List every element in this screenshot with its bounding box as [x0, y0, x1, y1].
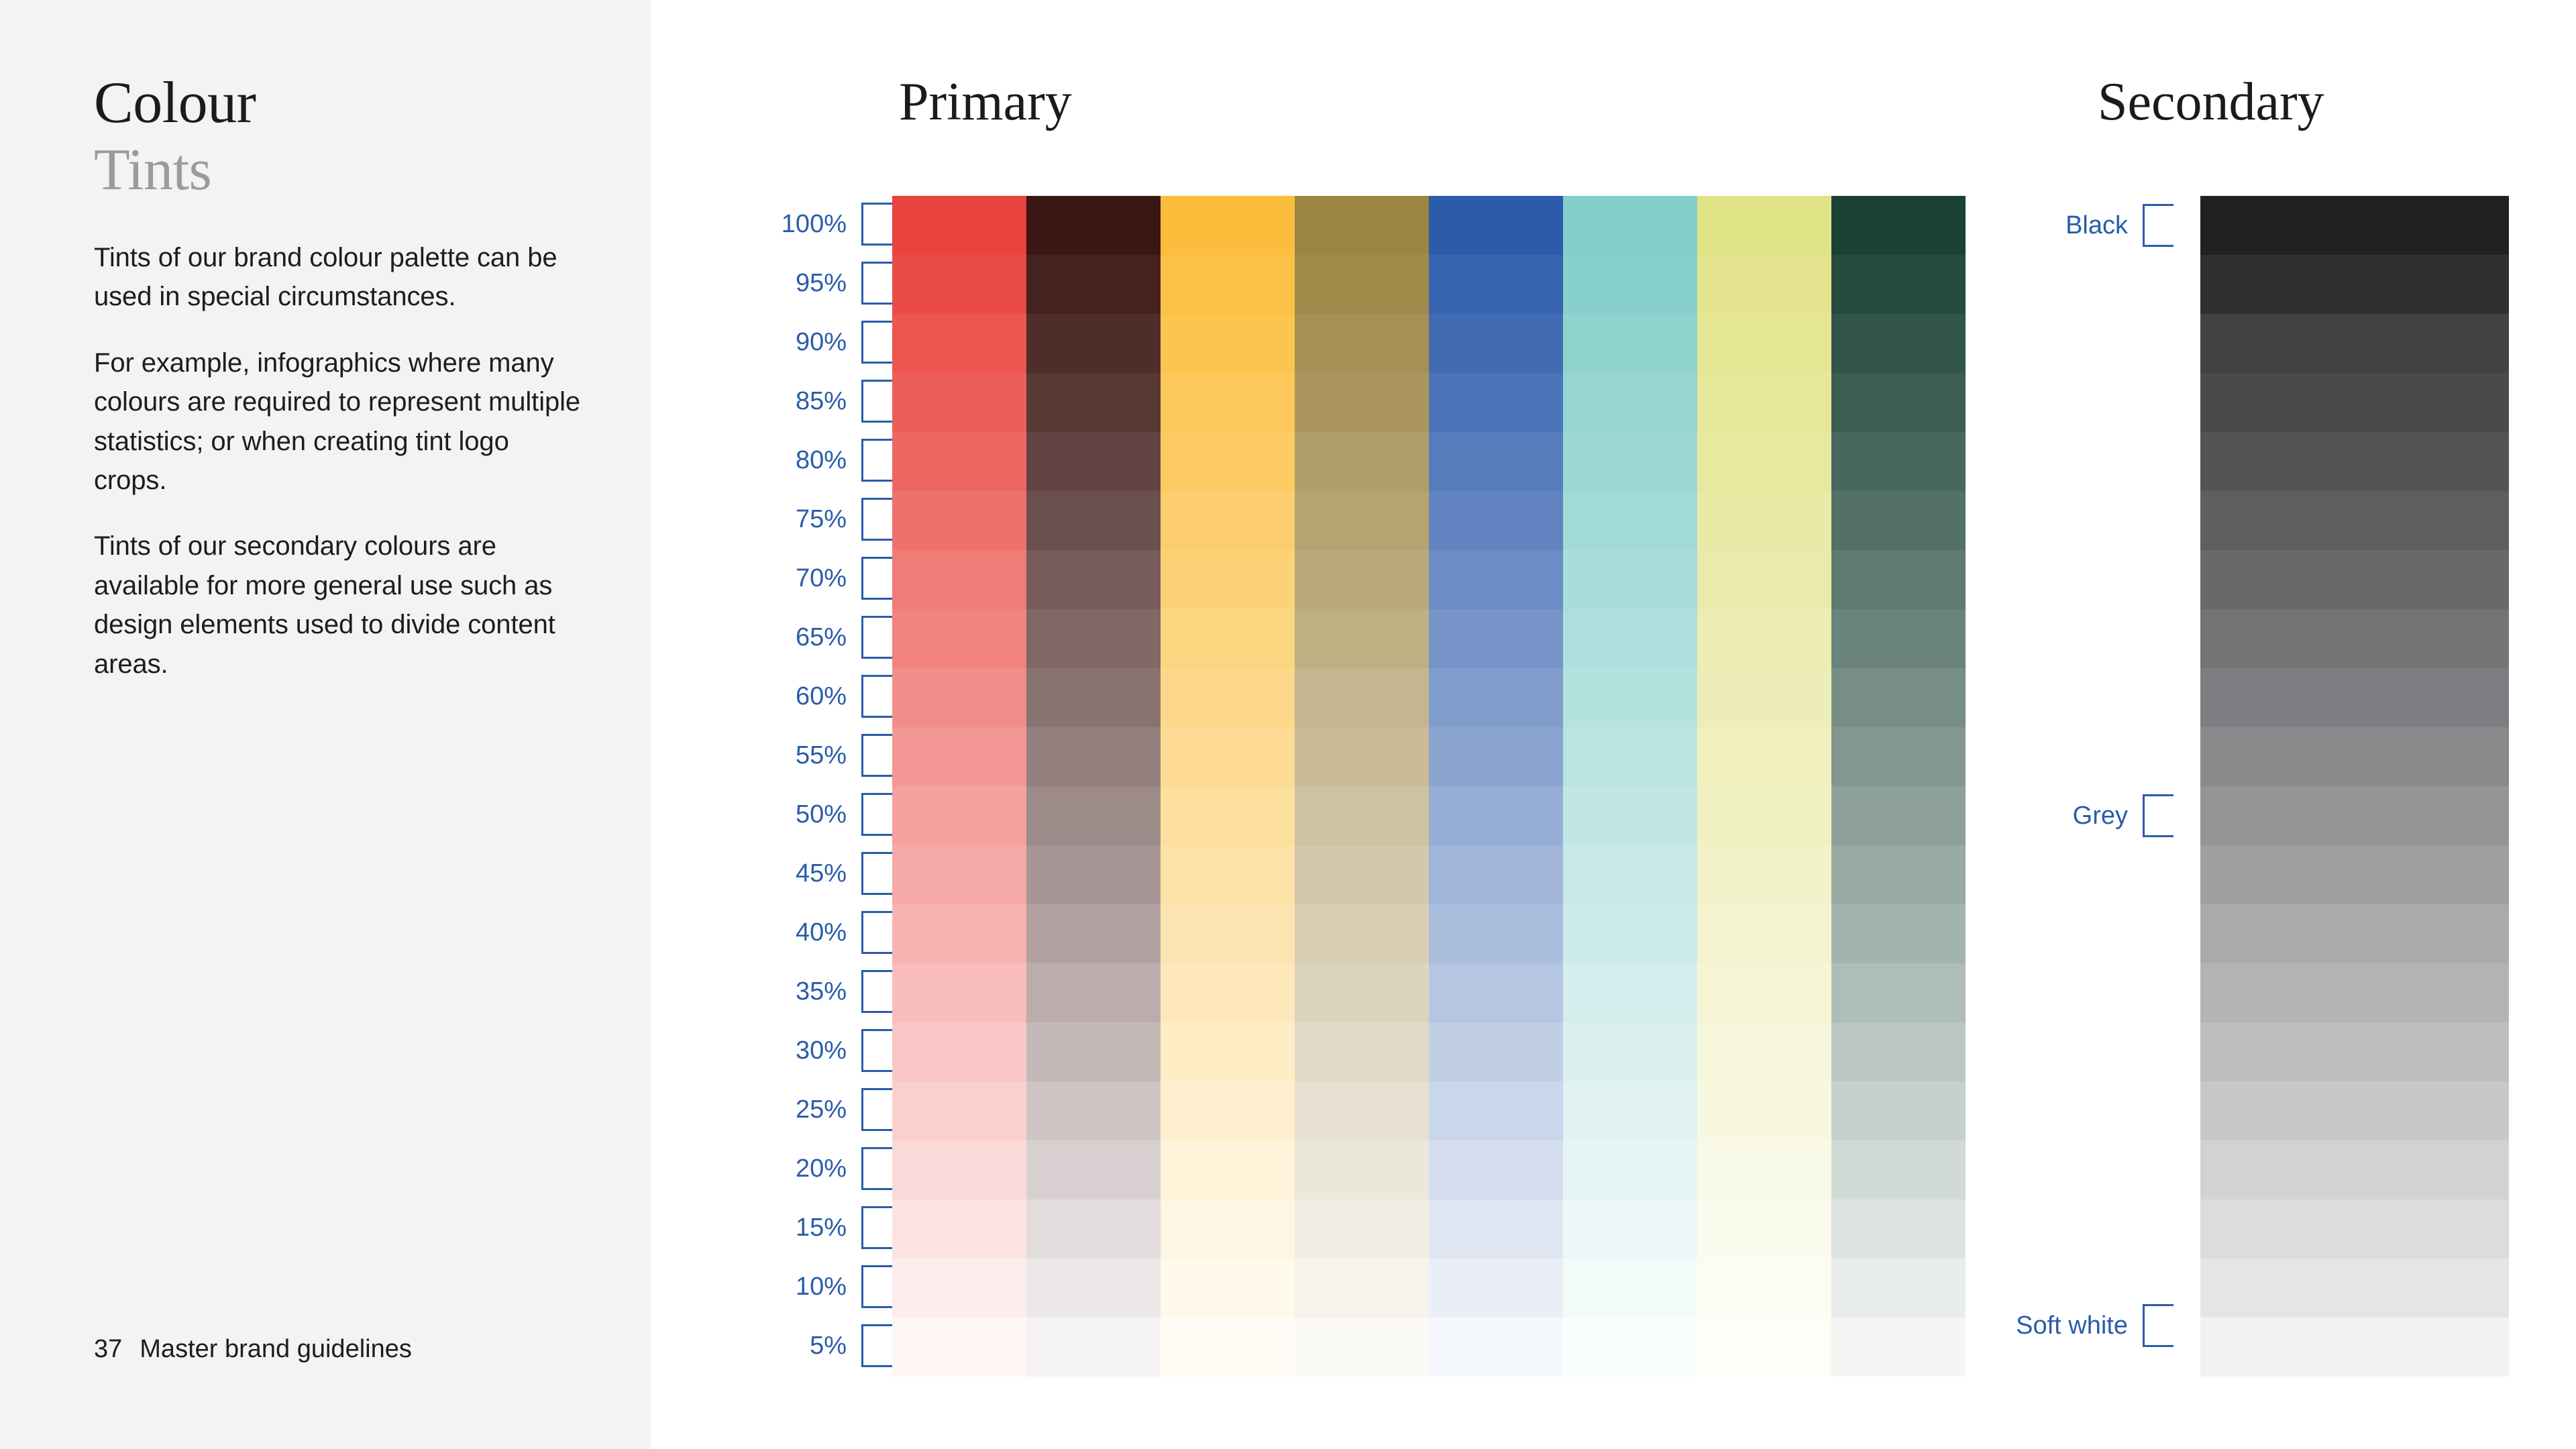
- bracket-marker: [861, 911, 892, 954]
- bracket-marker: [861, 321, 892, 364]
- tint-swatch: [1697, 963, 1831, 1022]
- tint-swatch: [1161, 904, 1295, 963]
- tint-swatch: [892, 1081, 1026, 1140]
- tint-swatch: [1295, 550, 1429, 609]
- tint-swatch: [892, 255, 1026, 314]
- tint-swatch: [1026, 432, 1161, 491]
- bracket-marker-soft-white: [2143, 1304, 2173, 1347]
- body-paragraph-1: Tints of our brand colour palette can be…: [94, 238, 584, 317]
- tint-percent-label: 95%: [796, 270, 847, 296]
- tint-swatch: [892, 432, 1026, 491]
- tint-swatch: [1026, 1318, 1161, 1377]
- tint-swatch: [1161, 1318, 1295, 1377]
- tint-swatch: [1026, 786, 1161, 845]
- tint-swatch: [892, 491, 1026, 550]
- tint-swatch: [1697, 786, 1831, 845]
- primary-column-aqua: [1563, 196, 1697, 1377]
- bracket-marker: [861, 1265, 892, 1308]
- heading-primary: Primary: [899, 75, 1072, 129]
- tint-swatch: [1429, 1258, 1563, 1318]
- secondary-label-grey-text: Grey: [2073, 803, 2128, 828]
- tint-swatch: [1563, 196, 1697, 255]
- tint-scale-row: 65%: [718, 608, 892, 667]
- tint-swatch: [1026, 727, 1161, 786]
- tint-swatch: [1161, 668, 1295, 727]
- bracket-marker: [861, 793, 892, 836]
- bracket-marker-grey: [2143, 794, 2173, 837]
- tint-percent-label: 60%: [796, 684, 847, 709]
- tint-swatch: [1563, 373, 1697, 432]
- tint-swatch: [1697, 432, 1831, 491]
- tint-swatch: [1161, 196, 1295, 255]
- tint-swatch: [1831, 904, 1966, 963]
- tint-swatch: [1697, 373, 1831, 432]
- tint-swatch: [2200, 491, 2509, 550]
- tint-swatch: [892, 609, 1026, 668]
- tint-swatch: [1295, 668, 1429, 727]
- tint-swatch: [1697, 845, 1831, 904]
- tint-scale-row: 25%: [718, 1080, 892, 1139]
- tint-swatch: [2200, 255, 2509, 314]
- body-copy: Tints of our brand colour palette can be…: [94, 238, 584, 684]
- tint-swatch: [1429, 963, 1563, 1022]
- bracket-marker: [861, 203, 892, 246]
- tint-percent-label: 40%: [796, 920, 847, 945]
- tint-swatch: [1026, 1140, 1161, 1199]
- primary-tint-grid: [892, 196, 1966, 1377]
- tint-swatch: [1026, 550, 1161, 609]
- bracket-marker: [861, 498, 892, 541]
- tint-swatch: [1026, 196, 1161, 255]
- tint-swatch: [2200, 1318, 2509, 1377]
- tint-swatch: [2200, 1081, 2509, 1140]
- tint-swatch: [1697, 314, 1831, 373]
- tint-swatch: [1429, 1022, 1563, 1081]
- tint-swatch: [1831, 963, 1966, 1022]
- tint-swatch: [1295, 1318, 1429, 1377]
- tint-swatch: [2200, 609, 2509, 668]
- tint-swatch: [1697, 1199, 1831, 1258]
- tint-percent-label: 100%: [782, 211, 847, 237]
- tint-scale-row: 60%: [718, 667, 892, 726]
- tint-swatch: [1161, 845, 1295, 904]
- bracket-marker: [861, 1147, 892, 1190]
- tint-scale-row: 85%: [718, 372, 892, 431]
- tint-swatch: [1831, 432, 1966, 491]
- tint-swatch: [1295, 845, 1429, 904]
- tint-scale-row: 50%: [718, 785, 892, 844]
- tint-swatch: [1026, 845, 1161, 904]
- tint-swatch: [1295, 1258, 1429, 1318]
- tint-swatch: [1295, 314, 1429, 373]
- bracket-marker: [861, 1324, 892, 1367]
- primary-column-blue: [1429, 196, 1563, 1377]
- tint-swatch: [1563, 668, 1697, 727]
- tint-swatch: [1831, 1081, 1966, 1140]
- tint-swatch: [1295, 727, 1429, 786]
- tint-swatch: [1295, 1022, 1429, 1081]
- tint-swatch: [1831, 314, 1966, 373]
- tint-percent-label: 5%: [810, 1333, 847, 1358]
- tint-swatch: [1831, 255, 1966, 314]
- tint-swatch: [2200, 1140, 2509, 1199]
- tint-swatch: [1161, 1199, 1295, 1258]
- tint-swatch: [2200, 196, 2509, 255]
- tint-percent-label: 50%: [796, 802, 847, 827]
- tint-swatch: [892, 1318, 1026, 1377]
- tint-swatch: [1429, 550, 1563, 609]
- tint-swatch: [1563, 963, 1697, 1022]
- tint-swatch: [1697, 668, 1831, 727]
- tint-swatch: [2200, 845, 2509, 904]
- tint-swatch: [1429, 373, 1563, 432]
- tint-swatch: [1161, 1258, 1295, 1318]
- tint-swatch: [1563, 1258, 1697, 1318]
- tint-swatch: [1295, 1081, 1429, 1140]
- heading-secondary: Secondary: [2098, 75, 2324, 129]
- tint-percent-label: 55%: [796, 743, 847, 768]
- bracket-marker-black: [2143, 204, 2173, 247]
- tint-swatch: [1697, 727, 1831, 786]
- tint-swatch: [1161, 491, 1295, 550]
- tint-percent-label: 65%: [796, 625, 847, 650]
- tint-swatch: [1831, 550, 1966, 609]
- tint-swatch: [1295, 373, 1429, 432]
- tint-scale-row: 95%: [718, 254, 892, 313]
- tint-swatch: [1026, 904, 1161, 963]
- tint-swatch: [1429, 1199, 1563, 1258]
- bracket-marker: [861, 439, 892, 482]
- tint-swatch: [1563, 1318, 1697, 1377]
- secondary-grey-column: [2200, 196, 2509, 1377]
- tint-swatch: [1563, 255, 1697, 314]
- tint-swatch: [1295, 432, 1429, 491]
- secondary-label-black: Black: [1932, 196, 2173, 255]
- tint-swatch: [1429, 668, 1563, 727]
- tint-scale-row: 90%: [718, 313, 892, 372]
- secondary-label-grey: Grey: [1932, 786, 2173, 845]
- tint-swatch: [2200, 373, 2509, 432]
- tint-swatch: [892, 314, 1026, 373]
- tint-swatch: [1295, 786, 1429, 845]
- tint-percent-label: 10%: [796, 1274, 847, 1299]
- secondary-label-soft-white: Soft white: [1932, 1296, 2173, 1355]
- tint-swatch: [1429, 196, 1563, 255]
- tint-swatch: [2200, 786, 2509, 845]
- tint-swatch: [1295, 963, 1429, 1022]
- bracket-marker: [861, 262, 892, 305]
- tint-swatch: [1831, 1140, 1966, 1199]
- tint-swatch: [1026, 314, 1161, 373]
- tint-scale-row: 20%: [718, 1139, 892, 1198]
- tint-swatch: [1563, 845, 1697, 904]
- tint-swatch: [1697, 255, 1831, 314]
- tint-percent-label: 70%: [796, 566, 847, 591]
- tint-swatch: [1161, 373, 1295, 432]
- tint-swatch: [1563, 550, 1697, 609]
- tint-swatch: [1429, 727, 1563, 786]
- tint-swatch: [1563, 1081, 1697, 1140]
- tint-percent-label: 25%: [796, 1097, 847, 1122]
- tint-swatch: [1429, 786, 1563, 845]
- tint-scale-row: 80%: [718, 431, 892, 490]
- bracket-marker: [861, 734, 892, 777]
- tint-percent-label: 15%: [796, 1215, 847, 1240]
- tint-swatch: [1295, 1140, 1429, 1199]
- tint-scale-row: 15%: [718, 1198, 892, 1257]
- tint-swatch: [1563, 1140, 1697, 1199]
- primary-column-red: [892, 196, 1026, 1377]
- tint-swatch: [1161, 432, 1295, 491]
- footer: 37Master brand guidelines: [94, 1335, 412, 1364]
- tint-swatch: [1295, 491, 1429, 550]
- tint-swatch: [892, 1199, 1026, 1258]
- bracket-marker: [861, 852, 892, 895]
- tint-swatch: [892, 845, 1026, 904]
- tint-swatch: [1831, 727, 1966, 786]
- tint-swatch: [1563, 786, 1697, 845]
- tint-percent-label: 85%: [796, 388, 847, 414]
- tint-swatch: [2200, 1199, 2509, 1258]
- tint-swatch: [1563, 432, 1697, 491]
- tint-swatch: [1429, 255, 1563, 314]
- tint-scale-row: 75%: [718, 490, 892, 549]
- bracket-marker: [861, 675, 892, 718]
- primary-column-lime: [1697, 196, 1831, 1377]
- tint-swatch: [892, 904, 1026, 963]
- primary-column-olive-gold: [1295, 196, 1429, 1377]
- tint-swatch: [1697, 904, 1831, 963]
- bracket-marker: [861, 616, 892, 659]
- tint-swatch: [892, 196, 1026, 255]
- tint-swatch: [1295, 609, 1429, 668]
- tint-percent-label: 80%: [796, 447, 847, 473]
- page-title: Colour: [94, 74, 256, 133]
- tint-swatch: [2200, 1022, 2509, 1081]
- tint-swatch: [1831, 668, 1966, 727]
- tint-swatch: [892, 373, 1026, 432]
- tint-swatch: [1697, 550, 1831, 609]
- tint-swatch: [1697, 1081, 1831, 1140]
- tint-swatch: [1161, 727, 1295, 786]
- tint-swatch: [892, 727, 1026, 786]
- bracket-marker: [861, 380, 892, 423]
- tint-swatch: [1563, 904, 1697, 963]
- tint-swatch: [1295, 1199, 1429, 1258]
- tint-swatch: [1697, 1258, 1831, 1318]
- tint-swatch: [1831, 373, 1966, 432]
- tint-swatch: [892, 1258, 1026, 1318]
- tint-swatch: [1429, 1140, 1563, 1199]
- bracket-marker: [861, 1088, 892, 1131]
- tint-swatch: [1161, 550, 1295, 609]
- tint-swatch: [1161, 314, 1295, 373]
- tint-swatch: [1563, 1022, 1697, 1081]
- tint-swatch: [2200, 727, 2509, 786]
- tint-swatch: [1161, 609, 1295, 668]
- tint-swatch: [1697, 1022, 1831, 1081]
- tint-swatch: [1295, 904, 1429, 963]
- tint-percent-label: 90%: [796, 329, 847, 355]
- tint-swatch: [1831, 491, 1966, 550]
- tint-swatch: [1831, 1022, 1966, 1081]
- tint-swatch: [2200, 668, 2509, 727]
- tint-scale-row: 35%: [718, 962, 892, 1021]
- tint-swatch: [1026, 1081, 1161, 1140]
- page-number: 37: [94, 1335, 122, 1363]
- tint-scale-row: 40%: [718, 903, 892, 962]
- tint-swatch: [2200, 1258, 2509, 1318]
- tint-swatch: [1697, 609, 1831, 668]
- tint-swatch: [1697, 1140, 1831, 1199]
- bracket-marker: [861, 970, 892, 1013]
- body-paragraph-3: Tints of our secondary colours are avail…: [94, 527, 584, 684]
- tint-scale-row: 5%: [718, 1316, 892, 1375]
- tint-scale-row: 55%: [718, 726, 892, 785]
- tint-swatch: [2200, 550, 2509, 609]
- primary-column-amber: [1161, 196, 1295, 1377]
- bracket-marker: [861, 557, 892, 600]
- page-subtitle: Tints: [94, 141, 211, 200]
- tint-swatch: [1295, 196, 1429, 255]
- secondary-tint-grid: [2200, 196, 2509, 1377]
- tint-swatch: [1429, 845, 1563, 904]
- tint-swatch: [1026, 373, 1161, 432]
- tint-swatch: [1563, 491, 1697, 550]
- tint-swatch: [1831, 1199, 1966, 1258]
- tint-swatch: [1429, 1081, 1563, 1140]
- tint-swatch: [1026, 1258, 1161, 1318]
- tint-swatch: [1026, 668, 1161, 727]
- sidebar-panel: Colour Tints Tints of our brand colour p…: [0, 0, 651, 1449]
- secondary-label-black-text: Black: [2065, 213, 2128, 238]
- tint-swatch: [1831, 609, 1966, 668]
- tint-swatch: [892, 550, 1026, 609]
- tint-swatch: [1563, 1199, 1697, 1258]
- tint-swatch: [1161, 963, 1295, 1022]
- tint-percent-scale: 100%95%90%85%80%75%70%65%60%55%50%45%40%…: [718, 195, 892, 1375]
- tint-swatch: [1429, 314, 1563, 373]
- tint-swatch: [1026, 1022, 1161, 1081]
- tint-swatch: [1161, 786, 1295, 845]
- tint-swatch: [1563, 609, 1697, 668]
- tint-swatch: [1563, 314, 1697, 373]
- tint-swatch: [1026, 1199, 1161, 1258]
- tint-swatch: [2200, 432, 2509, 491]
- tint-swatch: [1429, 491, 1563, 550]
- tint-swatch: [1295, 255, 1429, 314]
- tint-swatch: [1697, 1318, 1831, 1377]
- tint-swatch: [1026, 609, 1161, 668]
- tint-swatch: [2200, 963, 2509, 1022]
- tint-scale-row: 45%: [718, 844, 892, 903]
- tint-swatch: [1429, 1318, 1563, 1377]
- bracket-marker: [861, 1029, 892, 1072]
- tint-scale-row: 70%: [718, 549, 892, 608]
- tint-percent-label: 75%: [796, 506, 847, 532]
- tint-swatch: [892, 1022, 1026, 1081]
- tint-percent-label: 30%: [796, 1038, 847, 1063]
- tint-swatch: [892, 1140, 1026, 1199]
- secondary-label-soft-white-text: Soft white: [2016, 1313, 2128, 1338]
- tint-swatch: [1697, 196, 1831, 255]
- bracket-marker: [861, 1206, 892, 1249]
- document-title: Master brand guidelines: [140, 1335, 412, 1363]
- tint-percent-label: 20%: [796, 1156, 847, 1181]
- tint-swatch: [2200, 904, 2509, 963]
- tint-swatch: [1161, 1140, 1295, 1199]
- tint-swatch: [1026, 255, 1161, 314]
- tint-scale-row: 30%: [718, 1021, 892, 1080]
- tint-swatch: [1161, 1022, 1295, 1081]
- tint-swatch: [2200, 314, 2509, 373]
- tint-swatch: [1429, 904, 1563, 963]
- tint-swatch: [1831, 845, 1966, 904]
- tint-swatch: [1026, 963, 1161, 1022]
- tint-swatch: [892, 963, 1026, 1022]
- primary-column-dark-brown: [1026, 196, 1161, 1377]
- tint-swatch: [1563, 727, 1697, 786]
- tint-swatch: [1161, 1081, 1295, 1140]
- tint-swatch: [892, 668, 1026, 727]
- tint-scale-row: 10%: [718, 1257, 892, 1316]
- tint-scale-row: 100%: [718, 195, 892, 254]
- tint-percent-label: 35%: [796, 979, 847, 1004]
- tint-swatch: [1697, 491, 1831, 550]
- body-paragraph-2: For example, infographics where many col…: [94, 343, 584, 500]
- tint-swatch: [1429, 432, 1563, 491]
- tint-swatch: [1161, 255, 1295, 314]
- tint-swatch: [1429, 609, 1563, 668]
- tint-percent-label: 45%: [796, 861, 847, 886]
- tint-swatch: [1026, 491, 1161, 550]
- tint-swatch: [892, 786, 1026, 845]
